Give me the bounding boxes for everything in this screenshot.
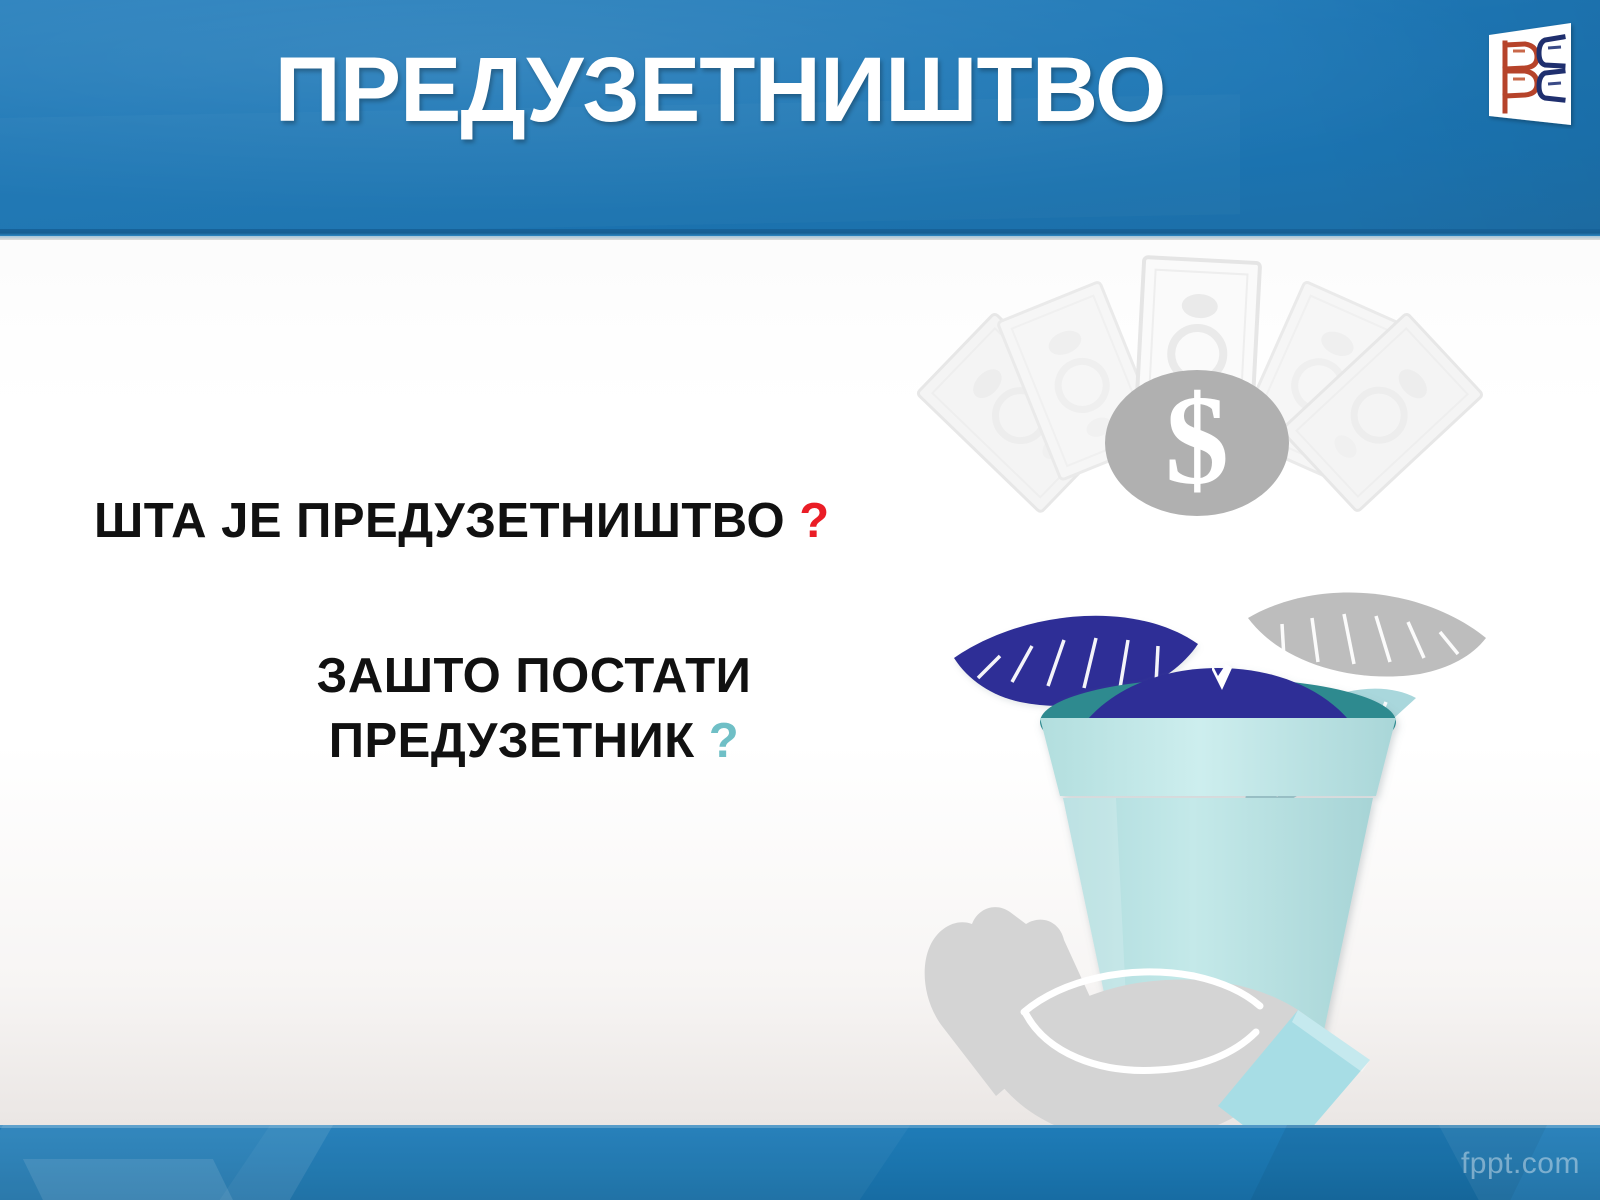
footer-facet-3 xyxy=(210,1125,931,1200)
page-title: ПРЕДУЗЕТНИШТВО xyxy=(0,44,1440,136)
fppt-watermark: fppt.com xyxy=(1461,1147,1580,1181)
svg-text:$: $ xyxy=(1165,369,1229,511)
institution-logo xyxy=(1481,21,1577,129)
presentation-slide: ПРЕДУЗЕТНИШТВО xyxy=(0,0,1600,1200)
money-plant-illustration: $ xyxy=(900,240,1540,1140)
dollar-coin-icon: $ xyxy=(1105,369,1289,516)
question-two-line-one: ЗАШТО ПОСТАТИ xyxy=(94,644,974,709)
question-two: ЗАШТО ПОСТАТИ ПРЕДУЗЕТНИК ? xyxy=(94,644,974,774)
question-one-mark: ? xyxy=(799,494,829,548)
slide-footer: fppt.com xyxy=(0,1125,1600,1200)
logo-mark-icon xyxy=(1481,21,1577,129)
header-underline xyxy=(0,229,1600,236)
footer-facet-2 xyxy=(23,1159,247,1200)
money-plant-graphic: $ xyxy=(900,240,1540,1140)
question-two-line-two: ПРЕДУЗЕТНИК xyxy=(329,714,695,768)
leaf-gray xyxy=(1248,592,1486,676)
question-one: ШТА ЈЕ ПРЕДУЗЕТНИШТВО ? xyxy=(94,493,830,549)
question-one-text: ШТА ЈЕ ПРЕДУЗЕТНИШТВО xyxy=(94,494,785,548)
question-two-line-two-row: ПРЕДУЗЕТНИК ? xyxy=(94,709,974,774)
question-two-mark: ? xyxy=(709,714,739,768)
